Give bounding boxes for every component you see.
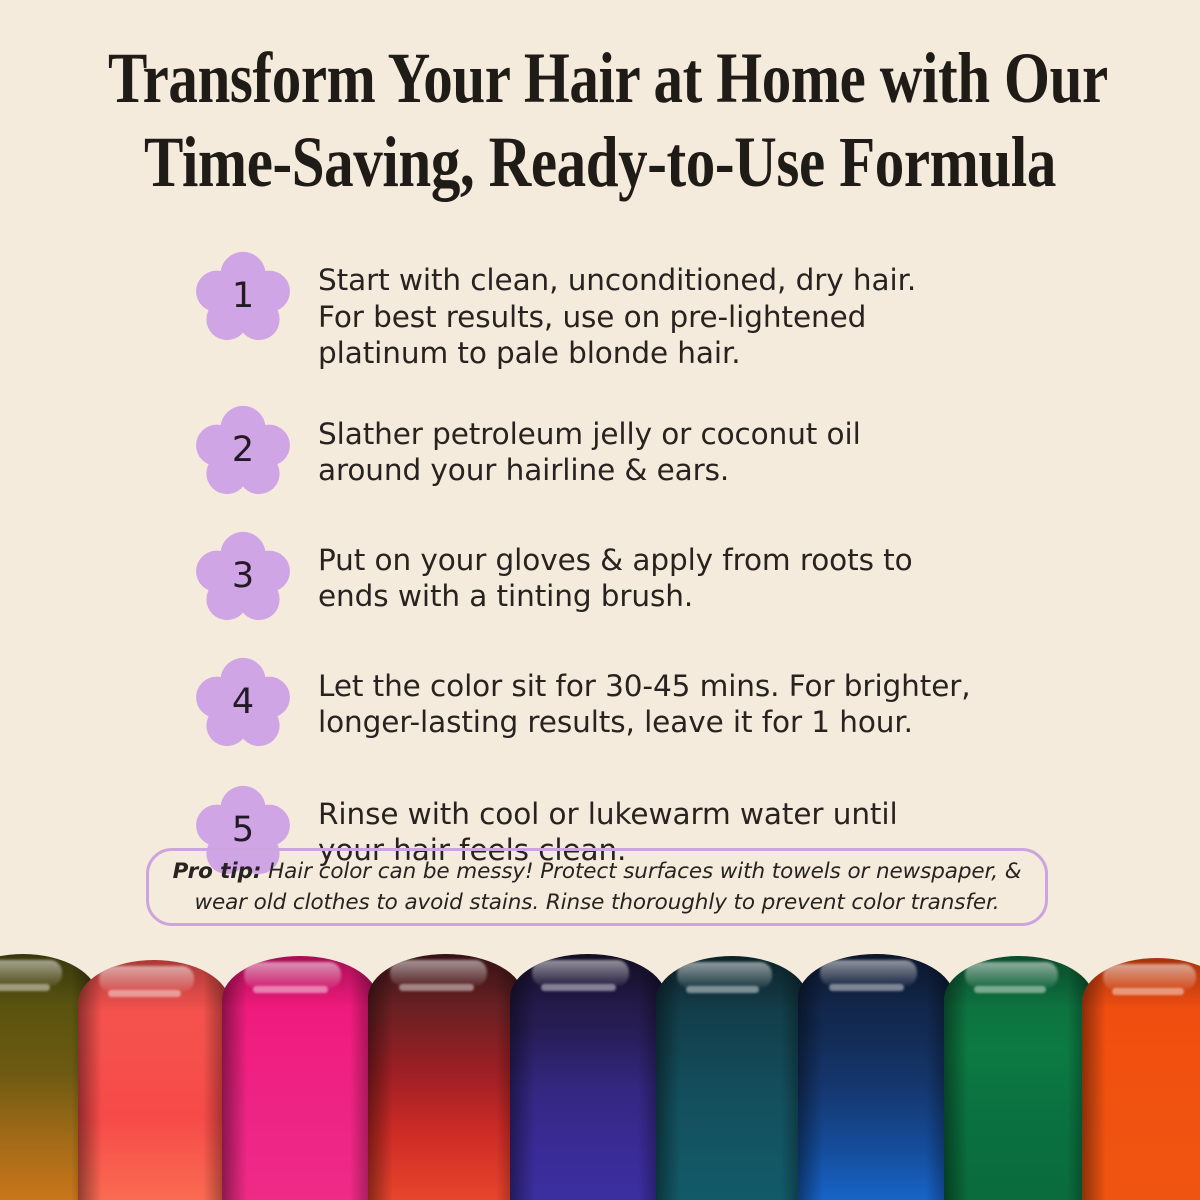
step-item-4: 4 Let the color sit for 30-45 mins. For … [196, 656, 1056, 748]
swatch-highlight-secondary [108, 990, 181, 997]
step-text-4: Let the color sit for 30-45 mins. For br… [290, 656, 1056, 741]
step-2-line-1: Slather petroleum jelly or coconut oil [318, 416, 1056, 453]
swatch-left-shade [78, 960, 102, 1200]
step-2-line-2: around your hairline & ears. [318, 452, 1056, 489]
swatch-highlight [532, 960, 629, 986]
step-text-1: Start with clean, unconditioned, dry hai… [290, 250, 1056, 372]
pro-tip-label: Pro tip: [173, 859, 262, 884]
swatch-left-shade [222, 956, 247, 1200]
step-1-line-1: Start with clean, unconditioned, dry hai… [318, 262, 1056, 299]
dye-swatch-deep-teal [656, 956, 808, 1200]
step-badge-2: 2 [196, 404, 290, 496]
swatch-highlight [0, 960, 62, 986]
swatch-highlight-secondary [686, 986, 759, 993]
step-1-line-2: For best results, use on pre-lightened [318, 299, 1056, 336]
step-number-2: 2 [196, 404, 290, 496]
swatch-highlight-secondary [1112, 988, 1184, 995]
step-number-4: 4 [196, 656, 290, 748]
swatch-left-shade [798, 954, 823, 1200]
title-line-2: Time-Saving, Ready-to-Use Formula [108, 120, 1092, 204]
step-5-line-1: Rinse with cool or lukewarm water until [318, 796, 1056, 833]
step-text-2: Slather petroleum jelly or coconut oil a… [290, 404, 1056, 489]
swatch-highlight [244, 962, 341, 988]
swatch-highlight-secondary [541, 984, 616, 991]
step-text-3: Put on your gloves & apply from roots to… [290, 530, 1056, 615]
dye-swatch-hot-pink [222, 956, 378, 1200]
step-item-1: 1 Start with clean, unconditioned, dry h… [196, 250, 1056, 372]
pro-tip-line-1: Pro tip: Hair color can be messy! Protec… [173, 856, 1022, 887]
dye-swatch-midnight-violet [510, 954, 666, 1200]
dye-swatch-coral-red [78, 960, 230, 1200]
swatch-left-shade [656, 956, 680, 1200]
dye-swatch-bright-orange [1082, 958, 1200, 1200]
step-item-2: 2 Slather petroleum jelly or coconut oil… [196, 404, 1056, 496]
pro-tip-line-2: wear old clothes to avoid stains. Rinse … [173, 887, 1022, 918]
swatch-left-shade [944, 956, 968, 1200]
swatch-highlight [1103, 964, 1196, 990]
step-number-3: 3 [196, 530, 290, 622]
pro-tip-body-1: Hair color can be messy! Protect surface… [268, 859, 1021, 884]
infographic-page: Transform Your Hair at Home with Our Tim… [0, 0, 1200, 1200]
swatch-highlight [677, 962, 771, 988]
swatch-highlight [390, 960, 487, 986]
step-1-line-3: platinum to pale blonde hair. [318, 335, 1056, 372]
title-line-1: Transform Your Hair at Home with Our [108, 36, 1092, 120]
step-3-line-1: Put on your gloves & apply from roots to [318, 542, 1056, 579]
step-item-3: 3 Put on your gloves & apply from roots … [196, 530, 1056, 622]
swatch-left-shade [368, 954, 393, 1200]
step-4-line-2: longer-lasting results, leave it for 1 h… [318, 704, 1056, 741]
page-title: Transform Your Hair at Home with Our Tim… [0, 36, 1200, 204]
dye-swatch-burgundy-to-red [368, 954, 524, 1200]
step-4-line-1: Let the color sit for 30-45 mins. For br… [318, 668, 1056, 705]
swatch-highlight [99, 966, 193, 992]
swatch-highlight-secondary [974, 986, 1046, 993]
pro-tip-text: Pro tip: Hair color can be messy! Protec… [155, 856, 1040, 918]
swatch-highlight-secondary [253, 986, 328, 993]
pro-tip-box: Pro tip: Hair color can be messy! Protec… [146, 848, 1048, 926]
step-badge-3: 3 [196, 530, 290, 622]
dye-swatch-strip [0, 940, 1200, 1200]
step-badge-1: 1 [196, 250, 290, 342]
swatch-left-shade [510, 954, 535, 1200]
step-number-1: 1 [196, 250, 290, 342]
dye-swatch-navy-to-blue [798, 954, 954, 1200]
swatch-highlight-secondary [399, 984, 474, 991]
swatch-left-shade [1082, 958, 1106, 1200]
steps-list: 1 Start with clean, unconditioned, dry h… [196, 250, 1056, 876]
swatch-highlight [965, 962, 1058, 988]
step-badge-4: 4 [196, 656, 290, 748]
swatch-highlight-secondary [0, 984, 50, 991]
swatch-highlight-secondary [829, 984, 904, 991]
dye-swatch-emerald-green [944, 956, 1094, 1200]
swatch-highlight [820, 960, 917, 986]
step-3-line-2: ends with a tinting brush. [318, 578, 1056, 615]
